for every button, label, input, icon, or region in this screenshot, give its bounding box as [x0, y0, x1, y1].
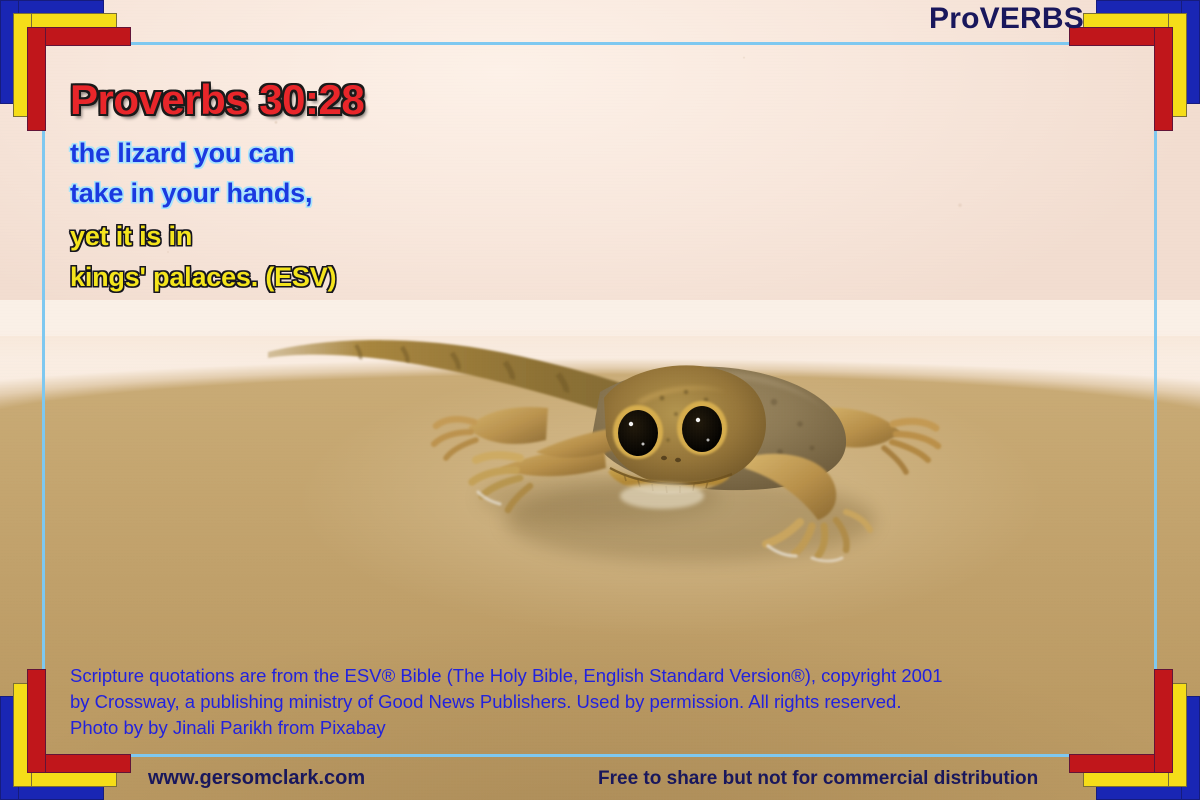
verse-line-1: the lizard you can	[70, 138, 294, 169]
share-note: Free to share but not for commercial dis…	[598, 768, 1038, 790]
credits-line-3: Photo by by Jinali Parikh from Pixabay	[70, 715, 1080, 741]
credits-line-2: by Crossway, a publishing ministry of Go…	[70, 689, 1080, 715]
credits-block: Scripture quotations are from the ESV® B…	[70, 663, 1080, 741]
credits-line-1: Scripture quotations are from the ESV® B…	[70, 663, 1080, 689]
verse-reference: Proverbs 30:28	[70, 76, 364, 124]
verse-line-4: kings' palaces. (ESV)	[70, 262, 336, 293]
scripture-card: ProVERBS Proverbs 30:28 the lizard you c…	[0, 0, 1200, 800]
verse-line-3: yet it is in	[70, 221, 192, 252]
verse-line-2: take in your hands,	[70, 178, 312, 209]
brand-title: ProVERBS	[929, 2, 1084, 36]
corner-bracket-top-right	[1069, 0, 1200, 131]
corner-bracket-bottom-right	[1069, 669, 1200, 800]
site-url[interactable]: www.gersomclark.com	[148, 767, 365, 790]
